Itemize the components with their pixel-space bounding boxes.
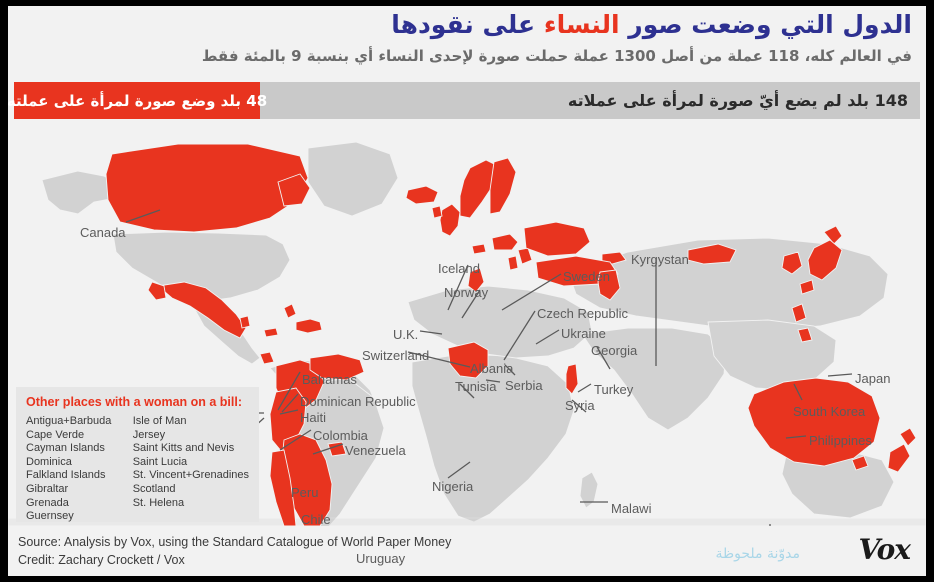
legend-col1-item: Falkland Islands [26, 469, 125, 483]
map-label-bahamas: Bahamas [302, 372, 357, 387]
legend-col1-item: Guernsey [26, 510, 125, 524]
page-subtitle: في العالم كله، 118 عملة من أصل 1300 عملة… [202, 47, 912, 65]
legend-col1-item: Gibraltar [26, 483, 125, 497]
map-label-peru: Peru [291, 485, 318, 500]
map-label-albania: Albania [470, 361, 513, 376]
map-label-malawi: Malawi [611, 501, 651, 516]
footer: Source: Analysis by Vox, using the Stand… [18, 533, 451, 569]
legend-col1-item: Cayman Islands [26, 442, 125, 456]
map-label-syria: Syria [565, 398, 595, 413]
vox-logo: Vox [858, 533, 910, 566]
legend-col2-item: Jersey [133, 429, 249, 443]
legend-col1-item: Cape Verde [26, 429, 125, 443]
map-label-tunisia: Tunisia [455, 379, 496, 394]
infographic-frame: الدول التي وضعت صور النساء على نقودها في… [0, 0, 934, 582]
legend-col2-item: Saint Kitts and Nevis [133, 442, 249, 456]
banner-gray-label: 148 بلد لم يضع أيّ صورة لمرأة على عملاته [568, 91, 908, 110]
legend-column-1: Antigua+BarbudaCape VerdeCayman IslandsD… [26, 415, 125, 524]
map-label-chile: Chile [301, 512, 331, 527]
map-label-haiti: Haiti [300, 410, 326, 425]
footer-credit: Credit: Zachary Crockett / Vox [18, 551, 451, 569]
map-label-iceland: Iceland [438, 261, 480, 276]
map-label-japan: Japan [855, 371, 890, 386]
title-part2: على نقودها [391, 10, 544, 39]
map-label-georgia: Georgia [591, 343, 637, 358]
legend-col1-item: Dominica [26, 456, 125, 470]
map-label-venezuela: Venezuela [345, 443, 406, 458]
map-label-norway: Norway [444, 285, 488, 300]
map-label-u-k-: U.K. [393, 327, 418, 342]
legend-heading: Other places with a woman on a bill: [26, 395, 249, 409]
map-label-sweden: Sweden [563, 269, 610, 284]
legend-col1-item: Grenada [26, 497, 125, 511]
banner-segment-with-women: 48 بلد وضع صورة لمرأة على عملته [14, 82, 260, 119]
title-part1: الدول التي وضعت صور [620, 10, 912, 39]
infographic-canvas: الدول التي وضعت صور النساء على نقودها في… [8, 6, 926, 576]
map-label-philippines: Philippines [809, 433, 872, 448]
map-label-australia: Australia [761, 574, 812, 576]
map-label-canada: Canada [80, 225, 126, 240]
footer-source: Source: Analysis by Vox, using the Stand… [18, 533, 451, 551]
legend-col2-item: Saint Lucia [133, 456, 249, 470]
map-label-serbia: Serbia [505, 378, 543, 393]
legend-col1-item: Antigua+Barbuda [26, 415, 125, 429]
legend-column-2: Isle of ManJerseySaint Kitts and NevisSa… [133, 415, 249, 524]
banner-red-label: 48 بلد وضع صورة لمرأة على عملته [8, 92, 267, 110]
map-label-switzerland: Switzerland [362, 348, 429, 363]
legend-col2-item: St. Vincent+Grenadines [133, 469, 249, 483]
stat-banner: 148 بلد لم يضع أيّ صورة لمرأة على عملاته… [14, 82, 920, 119]
legend-col2-item: St. Helena [133, 497, 249, 511]
arabic-blog-note: مدوّنة ملحوظة [715, 546, 800, 562]
map-label-nigeria: Nigeria [432, 479, 473, 494]
legend-col2-item: Scotland [133, 483, 249, 497]
map-label-south-korea: South Korea [793, 404, 865, 419]
legend-box: Other places with a woman on a bill: Ant… [16, 387, 259, 522]
map-label-dominican-republic: Dominican Republic [300, 394, 416, 409]
map-label-czech-republic: Czech Republic [537, 306, 628, 321]
map-label-ukraine: Ukraine [561, 326, 606, 341]
legend-col2-item: Isle of Man [133, 415, 249, 429]
map-label-kyrgystan: Kyrgystan [631, 252, 689, 267]
map-label-turkey: Turkey [594, 382, 633, 397]
banner-segment-without-women: 148 بلد لم يضع أيّ صورة لمرأة على عملاته [260, 82, 920, 119]
title-highlight: النساء [544, 10, 620, 39]
map-label-colombia: Colombia [313, 428, 368, 443]
page-title: الدول التي وضعت صور النساء على نقودها [391, 10, 912, 39]
